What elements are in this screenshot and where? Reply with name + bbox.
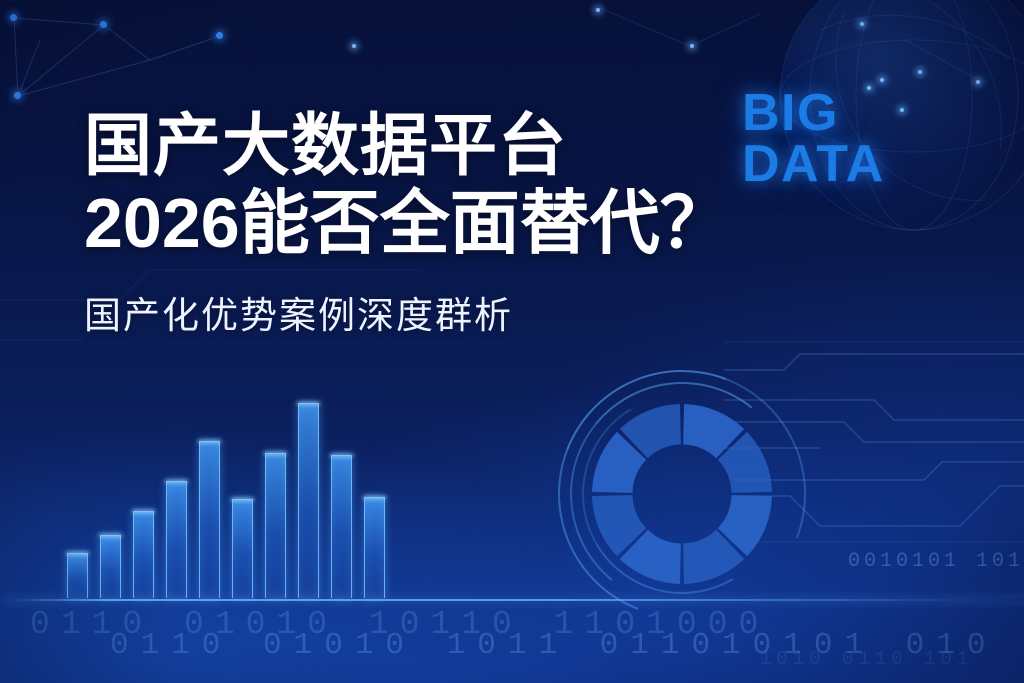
poster-canvas: BIG DATA 国产大数据平台 2026能否全面替代？ 国产化优势案例深度群析… [0, 0, 1024, 683]
vignette-overlay [0, 0, 1024, 683]
